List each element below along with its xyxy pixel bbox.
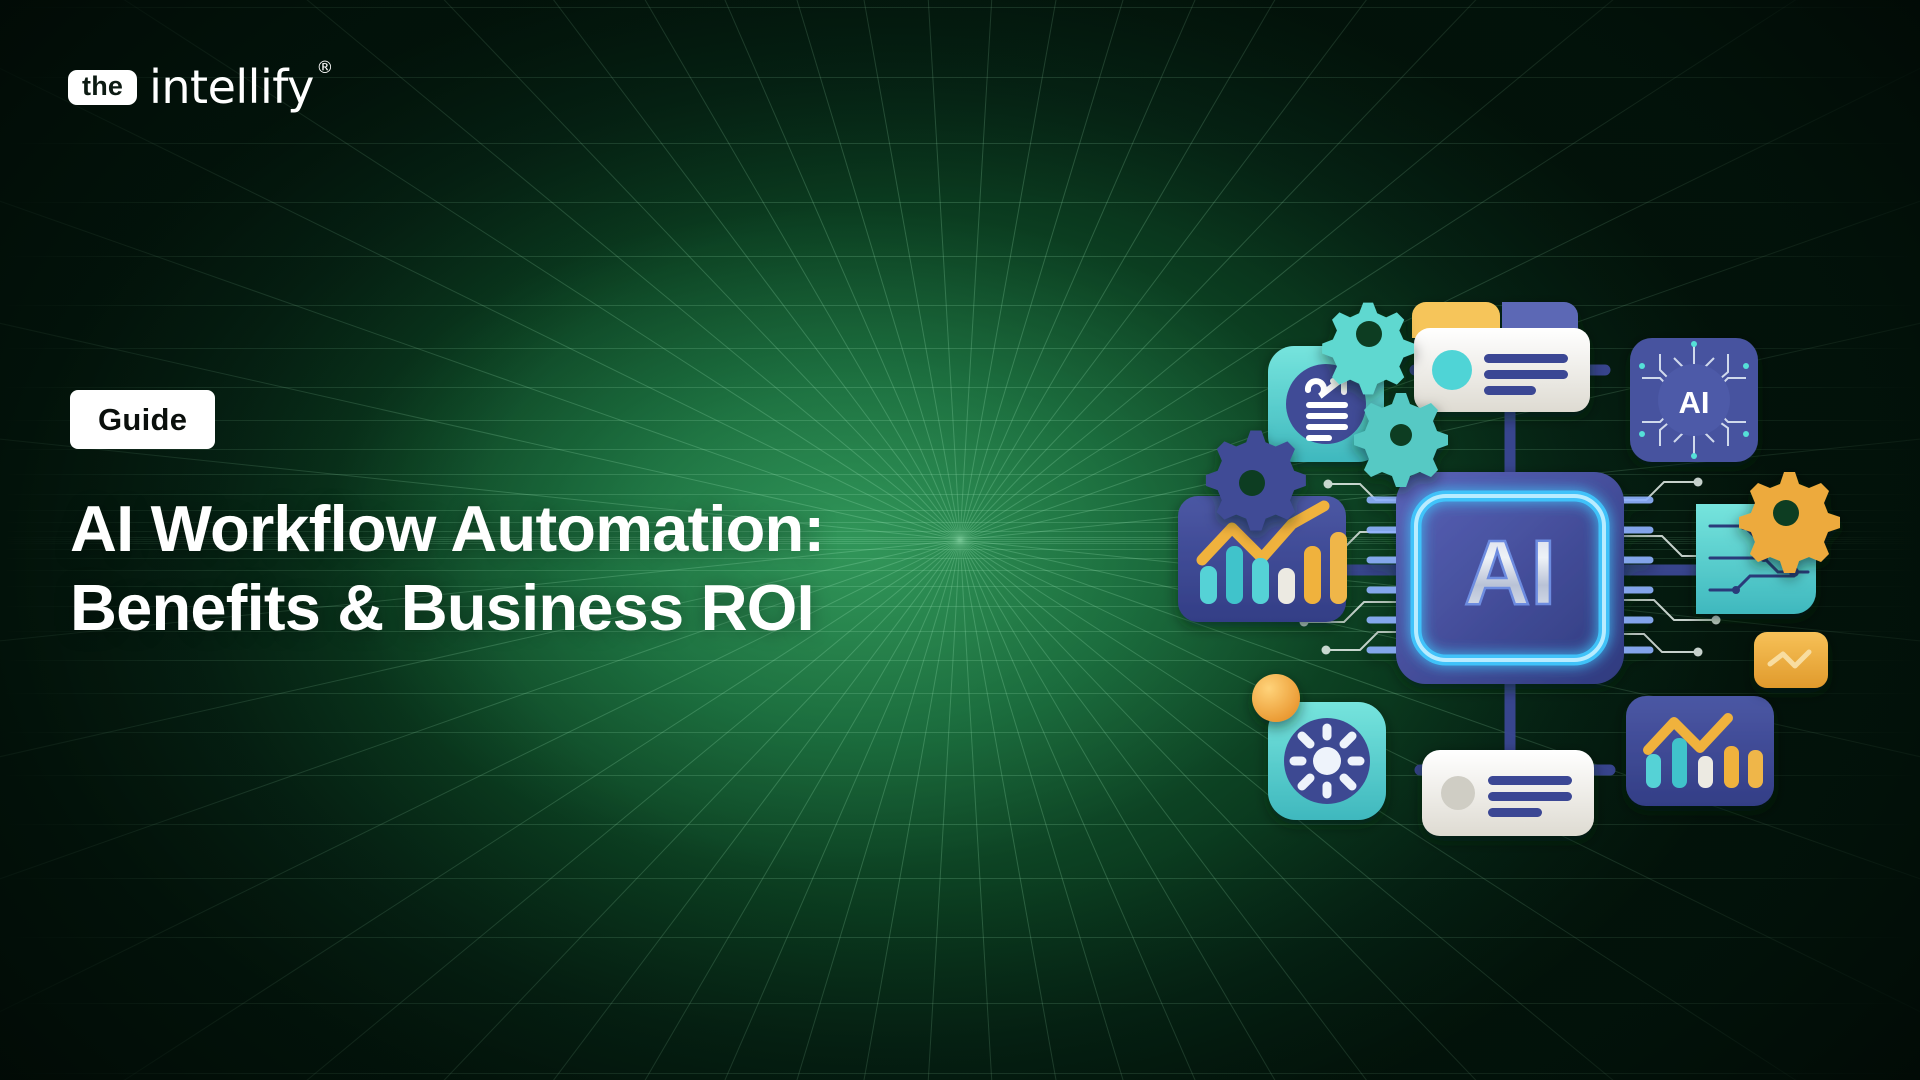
gear-navy-left (1206, 430, 1306, 530)
secondary-chip-label: AI (1679, 385, 1710, 420)
grid-line (0, 1073, 1920, 1074)
page-title-line-1: AI Workflow Automation: (70, 489, 1130, 568)
ai-automation-illustration: AI (1190, 250, 1830, 890)
grid-line (0, 937, 1920, 938)
brand-logo[interactable]: the intellify ® (68, 64, 314, 110)
gear-cyan-mid (1354, 393, 1448, 487)
page-title: AI Workflow Automation: Benefits & Busin… (70, 489, 1130, 648)
hero-banner: the intellify ® Guide AI Workflow Automa… (0, 0, 1920, 1080)
grid-line (0, 202, 1920, 203)
text-card-icon (1422, 750, 1594, 836)
logo-wordmark: intellify ® (149, 64, 314, 110)
registered-trademark-icon: ® (316, 60, 333, 77)
grid-line (0, 1003, 1920, 1004)
gear-orange-right (1739, 472, 1840, 573)
center-ai-chip: AI (1370, 472, 1650, 684)
sphere-orange (1252, 674, 1300, 722)
grid-line (0, 7, 1920, 8)
logo-wordmark-text: intellify (149, 60, 314, 114)
page-title-line-2: Benefits & Business ROI (70, 568, 1130, 647)
hero-copy: Guide AI Workflow Automation: Benefits &… (70, 390, 1130, 648)
spark-card-icon (1754, 632, 1828, 688)
contact-card-icon (1412, 302, 1590, 412)
gear-cyan-top (1322, 303, 1414, 395)
guide-badge: Guide (70, 390, 215, 449)
logo-badge-the: the (68, 70, 137, 105)
ai-microchip-icon: AI (1630, 338, 1758, 462)
grid-line (0, 143, 1920, 144)
center-chip-label: AI (1464, 522, 1556, 624)
bar-chart-small-icon (1626, 696, 1774, 806)
